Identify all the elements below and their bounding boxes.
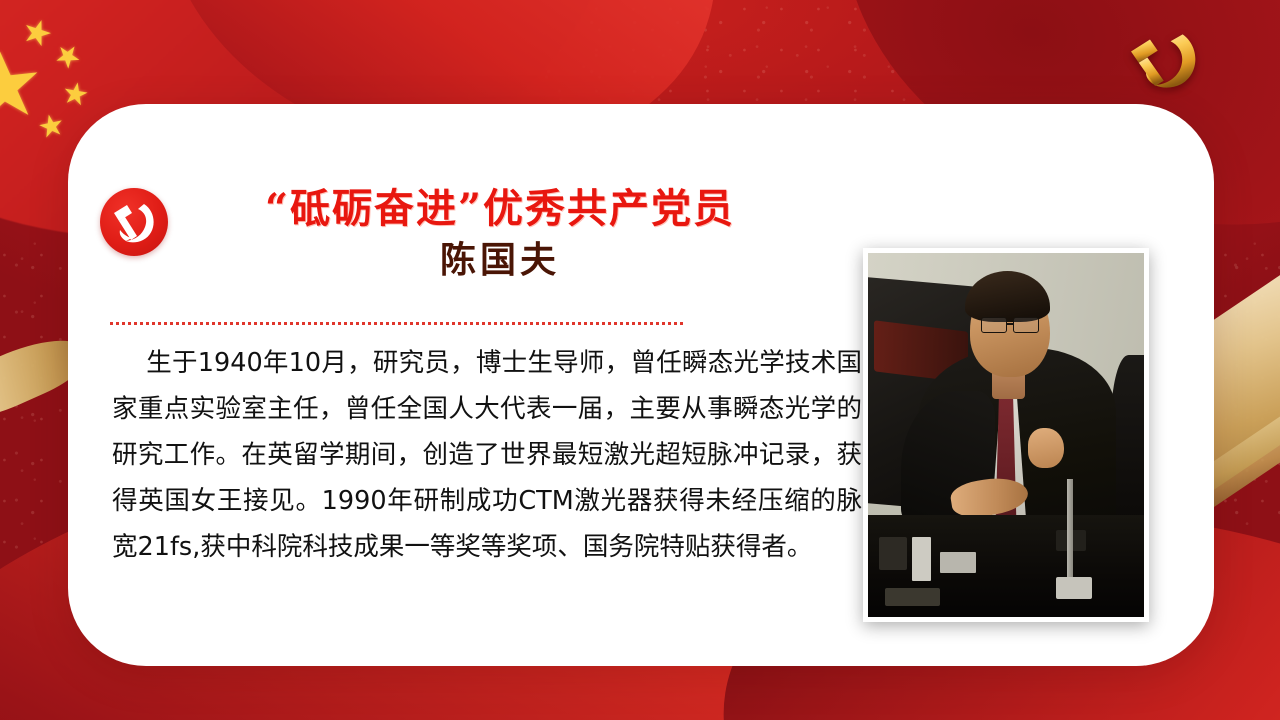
flag-star-small-1: ★ xyxy=(17,12,56,54)
portrait-photo-frame xyxy=(863,248,1149,622)
flag-star-small-2: ★ xyxy=(48,37,87,77)
biography-text: 生于1940年10月，研究员，博士生导师，曾任瞬态光学技术国家重点实验室主任，曾… xyxy=(112,340,862,570)
flag-star-small-4: ★ xyxy=(35,110,68,145)
party-badge-icon xyxy=(100,188,168,256)
portrait-photo xyxy=(868,253,1144,617)
page-title: “砥砺奋进”优秀共产党员 xyxy=(200,184,800,234)
photo-optic-mount-1 xyxy=(879,537,907,570)
photo-eyeglass-bridge xyxy=(1007,323,1014,325)
photo-eyeglass-left xyxy=(981,317,1007,334)
photo-optic-post xyxy=(1067,479,1074,588)
party-emblem-icon xyxy=(1110,24,1214,98)
photo-optic-mount-2 xyxy=(912,537,931,581)
photo-raised-hand xyxy=(1028,428,1064,468)
photo-optic-rail xyxy=(885,588,940,606)
photo-optic-mount-3 xyxy=(940,552,976,574)
photo-optic-post-base xyxy=(1056,577,1092,599)
dotted-divider xyxy=(110,322,683,325)
flag-star-small-3: ★ xyxy=(60,78,92,112)
photo-eyeglass-right xyxy=(1013,317,1039,334)
biography-body: 生于1940年10月，研究员，博士生导师，曾任瞬态光学技术国家重点实验室主任，曾… xyxy=(112,348,862,562)
content-card: “砥砺奋进”优秀共产党员 陈国夫 生于1940年10月，研究员，博士生导师，曾任… xyxy=(68,104,1214,666)
title-block: “砥砺奋进”优秀共产党员 陈国夫 xyxy=(200,184,800,285)
slide-canvas: ★ ★ ★ ★ ★ xyxy=(0,0,1280,720)
person-name: 陈国夫 xyxy=(200,236,800,285)
